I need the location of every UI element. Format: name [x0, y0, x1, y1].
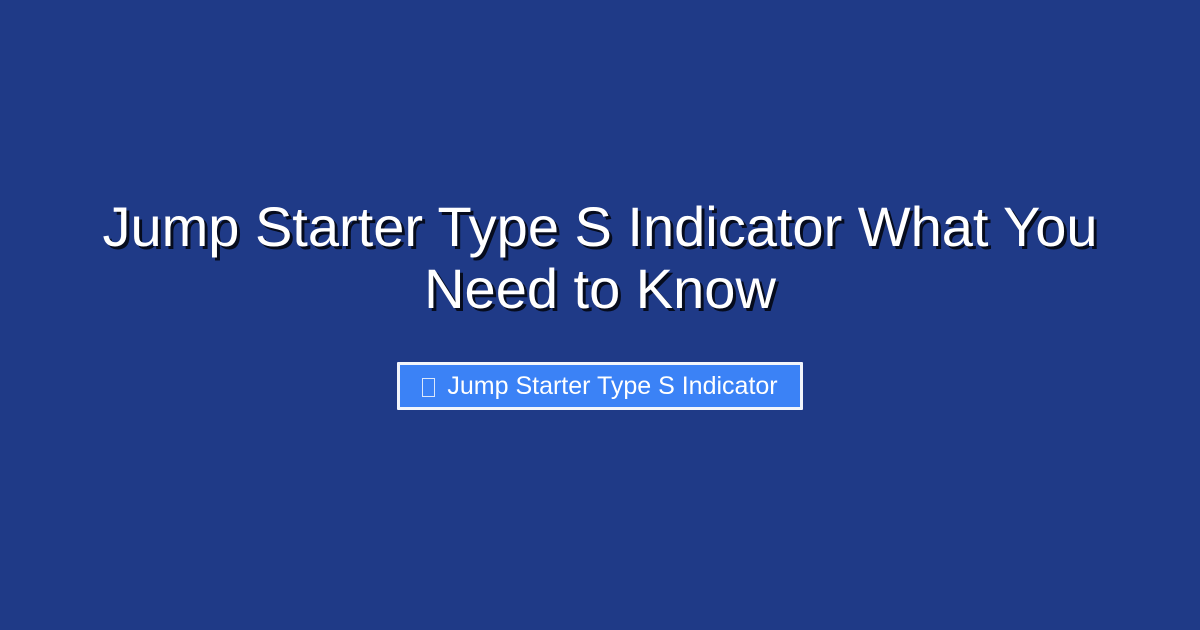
cta-badge-button[interactable]: Jump Starter Type S Indicator	[397, 362, 802, 410]
cta-badge-label: Jump Starter Type S Indicator	[447, 374, 777, 399]
page-title: Jump Starter Type S Indicator What You N…	[0, 196, 1200, 320]
card-content: Jump Starter Type S Indicator What You N…	[0, 0, 1200, 410]
cta-badge-row: Jump Starter Type S Indicator	[0, 362, 1200, 410]
missing-glyph-tofu-icon	[422, 378, 435, 397]
og-share-card: Jump Starter Type S Indicator What You N…	[0, 0, 1200, 630]
